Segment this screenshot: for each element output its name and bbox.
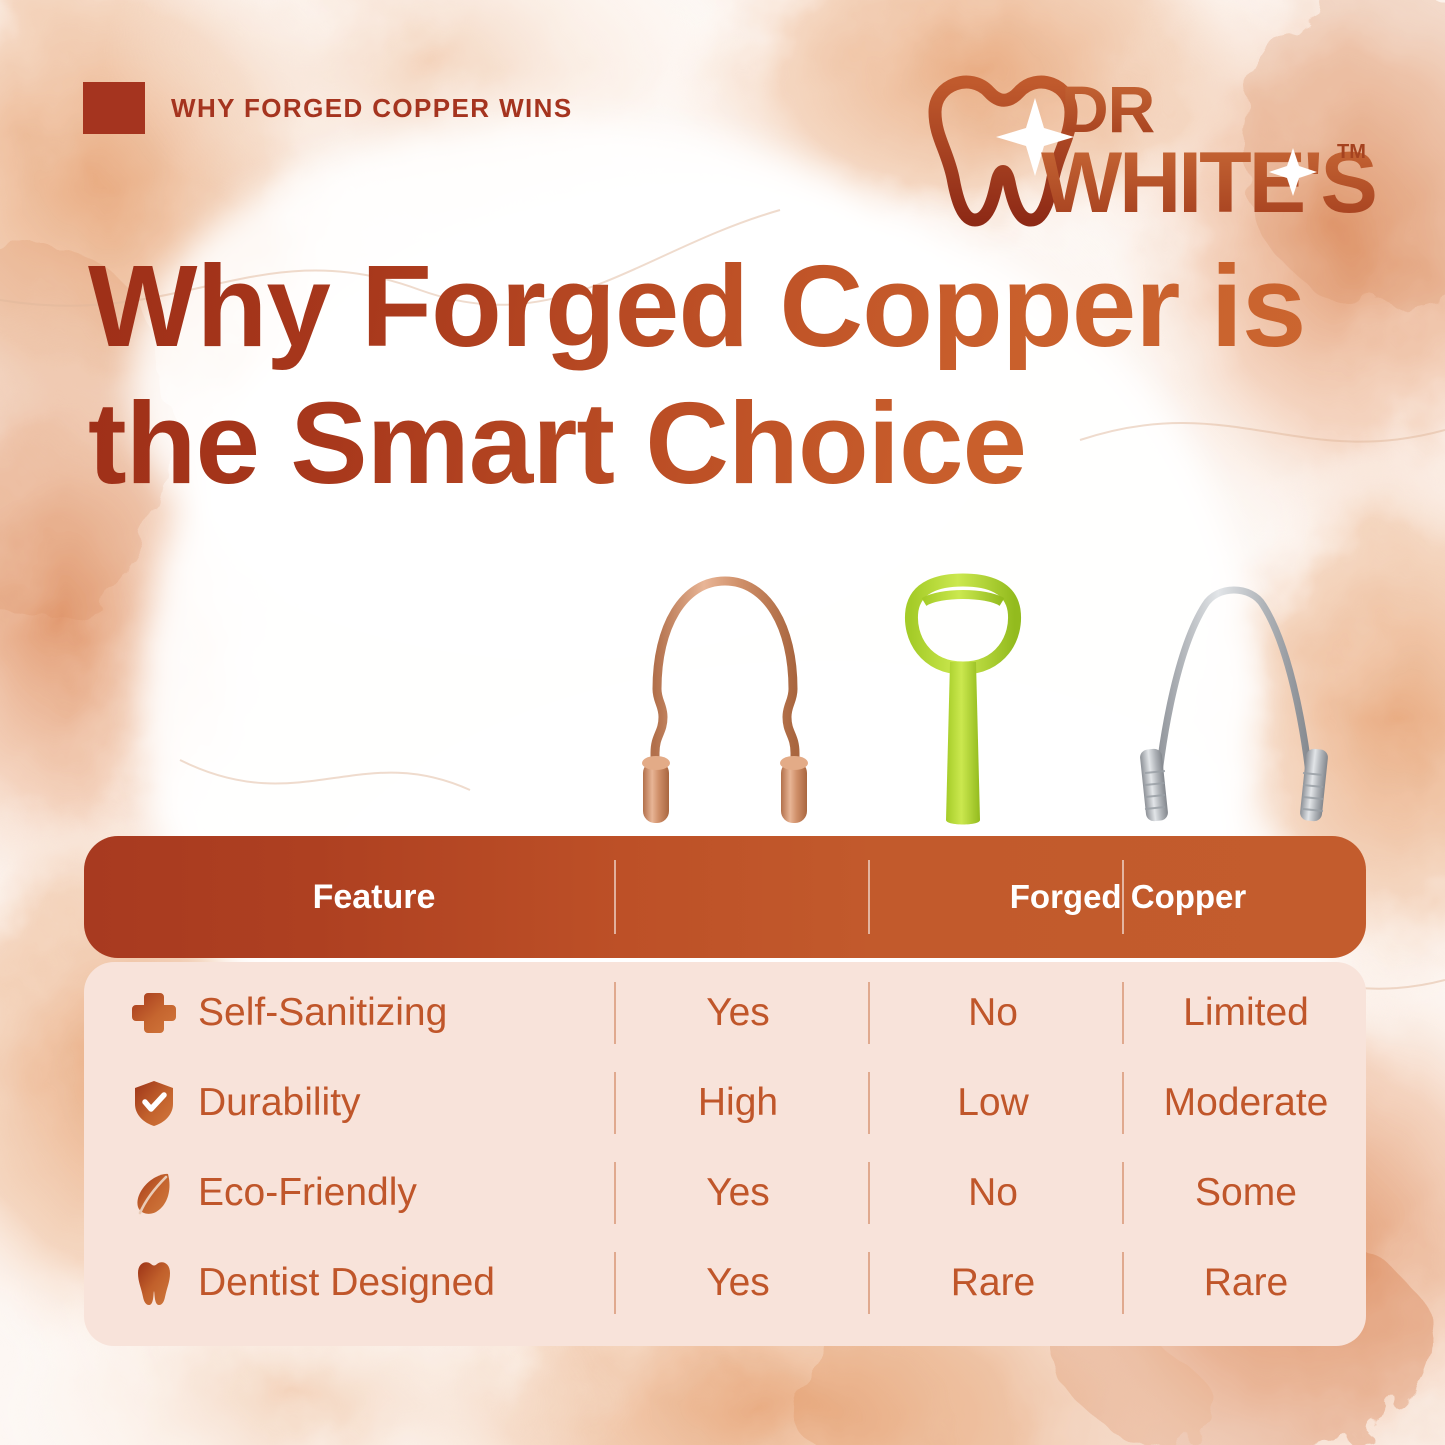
- value-plastic: No: [870, 1171, 1116, 1215]
- header-divider-1: [614, 860, 616, 934]
- kicker-row: WHY FORGED COPPER WINS: [83, 82, 573, 134]
- value-forged-copper: Yes: [616, 1261, 860, 1305]
- table-body: Self-Sanitizing Yes No Limited: [84, 962, 1366, 1346]
- table-row: Dentist Designed Yes Rare Rare: [84, 1238, 1366, 1328]
- value-forged-copper: Yes: [616, 1171, 860, 1215]
- value-plastic: Low: [870, 1081, 1116, 1125]
- page-title: Why Forged Copper is the Smart Choice: [88, 238, 1318, 512]
- feature-label: Self-Sanitizing: [198, 991, 447, 1035]
- brand-swatch: [83, 82, 145, 134]
- feature-cell: Self-Sanitizing: [132, 989, 616, 1037]
- value-steel: Limited: [1124, 991, 1368, 1035]
- feature-cell: Durability: [132, 1079, 616, 1127]
- feature-cell: Dentist Designed: [132, 1259, 616, 1307]
- value-forged-copper: High: [616, 1081, 860, 1125]
- feature-label: Durability: [198, 1081, 361, 1125]
- plus-icon: [132, 989, 176, 1037]
- comparison-table: Feature Forged Copper Plastic Scraper St…: [84, 836, 1366, 1346]
- value-steel: Rare: [1124, 1261, 1368, 1305]
- value-steel: Some: [1124, 1171, 1368, 1215]
- column-header-feature: Feature: [179, 878, 569, 916]
- value-plastic: Rare: [870, 1261, 1116, 1305]
- forged-copper-scraper-image: [625, 565, 825, 827]
- feature-label: Eco-Friendly: [198, 1171, 417, 1215]
- plastic-scraper-image: [888, 572, 1038, 830]
- table-header-row: Feature Forged Copper Plastic Scraper St…: [84, 836, 1366, 958]
- column-header-forged-copper: Forged Copper: [1006, 879, 1250, 916]
- leaf-icon: [132, 1169, 176, 1217]
- kicker-text: WHY FORGED COPPER WINS: [171, 93, 573, 124]
- feature-label: Dentist Designed: [198, 1261, 495, 1305]
- header-divider-2: [868, 860, 870, 934]
- shield-check-icon: [132, 1079, 176, 1127]
- dr-whites-logo: DR WHITE'S TM: [913, 70, 1383, 245]
- value-steel: Moderate: [1124, 1081, 1368, 1125]
- table-row: Eco-Friendly Yes No Some: [84, 1148, 1366, 1238]
- value-forged-copper: Yes: [616, 991, 860, 1035]
- header-divider-3: [1122, 860, 1124, 934]
- tooth-icon: [132, 1259, 176, 1307]
- logo-whites: WHITE'S: [1041, 135, 1375, 231]
- logo-tm: TM: [1337, 141, 1366, 163]
- value-plastic: No: [870, 991, 1116, 1035]
- steel-scraper-image: [1135, 563, 1333, 827]
- table-row: Durability High Low Moderate: [84, 1058, 1366, 1148]
- table-row: Self-Sanitizing Yes No Limited: [84, 968, 1366, 1058]
- feature-cell: Eco-Friendly: [132, 1169, 616, 1217]
